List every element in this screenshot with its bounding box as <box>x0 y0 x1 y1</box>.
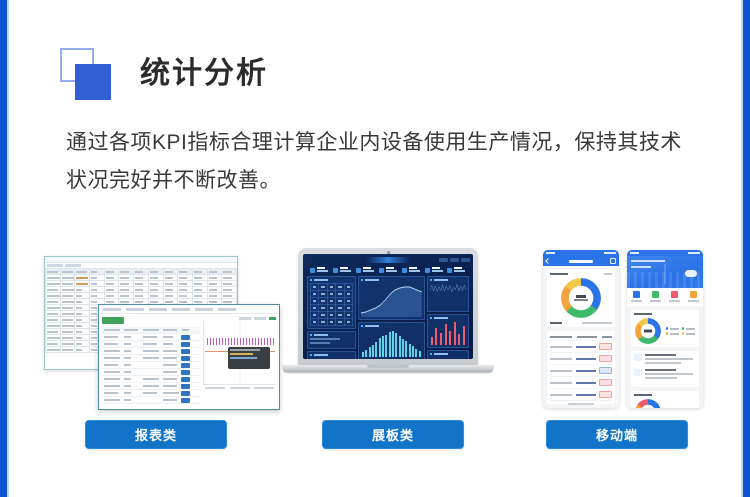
list-item[interactable] <box>550 341 612 353</box>
laptop-notch <box>367 365 409 368</box>
row-action-button[interactable] <box>181 342 190 347</box>
query-button[interactable] <box>269 317 276 320</box>
row-action-button[interactable] <box>181 356 190 361</box>
row-action-button[interactable] <box>181 398 190 403</box>
table-row <box>102 397 200 404</box>
list-item[interactable] <box>550 365 612 377</box>
row-action-button[interactable] <box>181 335 190 340</box>
row-action-button[interactable] <box>181 363 190 368</box>
list-item[interactable] <box>550 389 612 401</box>
panel-column-chart <box>427 314 469 348</box>
kpi-card <box>447 267 465 273</box>
donut-ring <box>635 399 661 408</box>
list-header-row <box>550 334 612 341</box>
section-description: 通过各项KPI指标合理计算企业内设备使用生产情况，保持其技术状况完好并不断改善。 <box>66 124 686 200</box>
tab-item[interactable] <box>149 308 167 311</box>
kpi-icon <box>310 268 315 273</box>
filter-icon[interactable] <box>610 258 616 264</box>
donut-center-value <box>574 294 588 302</box>
panel-grid-matrix <box>307 276 356 329</box>
kpi-card <box>379 267 397 273</box>
legend-item <box>666 332 679 335</box>
panel-alarm-table <box>427 350 469 359</box>
status-badge <box>599 355 612 362</box>
status-badge <box>599 379 612 386</box>
tab-item[interactable] <box>195 308 213 311</box>
quick-action-label <box>688 300 699 302</box>
mobile-screenshot[interactable] <box>530 250 718 412</box>
section-header: 统计分析 <box>56 48 268 100</box>
report-line-chart <box>203 322 276 385</box>
hero-line-secondary <box>631 266 651 268</box>
tab-item[interactable] <box>172 308 190 311</box>
filter-field[interactable] <box>239 317 251 320</box>
kpi-card <box>402 267 420 273</box>
device-stats-card <box>631 310 699 347</box>
laptop-lid <box>298 248 478 366</box>
dashboard-left-column <box>307 276 356 359</box>
alarm-table <box>430 357 466 359</box>
kpi-icon <box>447 268 452 273</box>
status-badge <box>599 367 612 374</box>
report-icon <box>690 291 697 298</box>
donut-chart-device-status <box>634 318 662 344</box>
table-row <box>102 369 200 376</box>
list-item[interactable] <box>550 353 612 365</box>
card-title <box>634 313 652 315</box>
message-list-card <box>631 351 699 387</box>
area-chart <box>361 283 422 317</box>
quick-action-label <box>650 300 661 302</box>
table-row <box>102 334 200 341</box>
axis-tick-label <box>205 387 225 389</box>
spark-line-svg <box>430 283 466 292</box>
kpi-icon <box>356 268 361 273</box>
tab-item[interactable] <box>218 308 236 311</box>
tab-item[interactable] <box>126 308 144 311</box>
kpi-icon <box>425 268 430 273</box>
dashboard-panels <box>305 276 471 359</box>
chart-toolbar[interactable] <box>203 317 276 320</box>
dashboard-menu[interactable] <box>439 258 470 262</box>
dashboard-title <box>366 257 410 263</box>
repair-icon <box>671 291 678 298</box>
row-action-button[interactable] <box>181 370 190 375</box>
quick-action-maintenance[interactable] <box>650 291 661 302</box>
area-chart-svg <box>361 283 422 317</box>
menu-item[interactable] <box>461 258 470 262</box>
kpi-icon <box>333 268 338 273</box>
task-stats-card <box>631 391 699 408</box>
legend-item <box>666 327 679 330</box>
category-button-row: 报表类 展板类 移动端 <box>0 420 750 447</box>
table-row <box>102 355 200 362</box>
report-detail-body <box>99 314 279 402</box>
signal-battery-icon <box>604 252 616 254</box>
filter-field[interactable] <box>254 317 266 320</box>
spark-line-chart <box>430 283 466 309</box>
dashboard-root <box>303 254 473 359</box>
status-badge <box>599 343 612 350</box>
donut-chart-task-status <box>634 399 662 408</box>
report-tab-bar[interactable] <box>99 305 279 314</box>
row-action-button[interactable] <box>181 377 190 382</box>
tooltip-line <box>230 353 253 355</box>
inspection-icon <box>633 291 640 298</box>
table-row <box>102 390 200 397</box>
panel-bar-chart <box>358 322 425 359</box>
panel-spark-lines <box>427 276 469 312</box>
clock-text <box>630 252 639 254</box>
clock-text <box>546 252 555 254</box>
chart-x-axis <box>203 385 276 389</box>
row-action-button[interactable] <box>181 384 190 389</box>
menu-item[interactable] <box>450 258 459 262</box>
dashboard-topbar <box>305 256 471 265</box>
message-item[interactable] <box>634 369 696 381</box>
laptop-screen <box>303 254 473 359</box>
report-data-table-pane <box>99 314 203 402</box>
tower-illustration <box>664 264 666 284</box>
legend-item <box>682 327 695 330</box>
report-detail-window <box>98 304 280 410</box>
page-title: 统计分析 <box>140 59 268 89</box>
tooltip-line <box>230 357 257 359</box>
message-badge <box>634 354 642 361</box>
column-chart <box>430 321 466 345</box>
kpi-card <box>425 267 443 273</box>
quick-action-inspection[interactable] <box>631 291 642 302</box>
donut-legend <box>662 327 696 335</box>
row-action-button[interactable] <box>181 349 190 354</box>
double-square-icon <box>56 48 112 100</box>
dashboard-screenshot[interactable] <box>282 248 494 398</box>
kpi-card <box>356 267 374 273</box>
card-footer-value <box>582 322 612 324</box>
report-tab <box>65 264 81 267</box>
quick-action-label <box>631 300 642 302</box>
weather-cloud-icon <box>685 270 697 277</box>
list-item[interactable] <box>550 377 612 389</box>
dashboard-kpi-row <box>305 265 471 276</box>
maintenance-icon <box>652 291 659 298</box>
showcase-strip <box>0 248 750 413</box>
kpi-card <box>310 267 328 273</box>
card-more-link[interactable] <box>604 273 612 275</box>
report-tab <box>47 264 63 267</box>
card-title <box>550 273 568 275</box>
record-list-card <box>547 331 615 404</box>
panel-summary <box>307 331 356 349</box>
card-title <box>634 394 652 396</box>
table-row <box>102 383 200 390</box>
dashboard-right-column <box>427 276 469 359</box>
phone-page-title <box>569 260 593 263</box>
donut-chart-devices <box>550 278 612 318</box>
panel-status-table <box>307 351 356 359</box>
table-row <box>102 341 200 348</box>
matrix-table <box>310 283 353 326</box>
card-footer-label <box>550 322 562 324</box>
reports-screenshot[interactable] <box>38 252 278 412</box>
legend-item <box>682 332 695 335</box>
hero-line-primary <box>631 260 665 262</box>
table-row <box>102 348 200 355</box>
square-filled-shape <box>75 64 111 100</box>
table-row <box>102 362 200 369</box>
home-indicator <box>568 403 594 405</box>
quick-action-label <box>669 300 680 302</box>
phone-screen-home <box>627 250 703 408</box>
tooltip-line <box>230 349 260 351</box>
message-item[interactable] <box>634 354 696 366</box>
table-row <box>102 376 200 383</box>
report-chart-pane <box>203 314 279 402</box>
quick-action-report[interactable] <box>688 291 699 302</box>
panel-area-chart <box>358 276 425 320</box>
report-data-table <box>102 327 200 404</box>
kpi-icon <box>379 268 384 273</box>
quick-actions-row[interactable] <box>627 288 703 306</box>
phone-nav-bar <box>543 256 619 266</box>
axis-tick-label <box>254 387 274 389</box>
menu-item[interactable] <box>439 258 448 262</box>
mobile-button[interactable]: 移动端 <box>546 420 688 449</box>
row-action-button[interactable] <box>181 391 190 396</box>
quick-action-repair[interactable] <box>669 291 680 302</box>
reports-button[interactable]: 报表类 <box>85 420 227 449</box>
export-button[interactable] <box>102 317 124 324</box>
chart-tooltip <box>228 347 270 369</box>
phone-screen-statistics <box>543 250 619 408</box>
signal-battery-icon <box>688 252 700 254</box>
axis-tick-label <box>230 387 250 389</box>
phone-hero-banner <box>627 256 703 288</box>
status-badge <box>599 391 612 398</box>
bar-chart <box>361 329 422 357</box>
message-badge <box>634 369 642 376</box>
back-icon[interactable] <box>545 258 551 264</box>
kpi-icon <box>402 268 407 273</box>
chart-series-line <box>207 338 275 345</box>
kpi-card <box>333 267 351 273</box>
tab-item[interactable] <box>103 308 121 311</box>
dashboard-button[interactable]: 展板类 <box>322 420 464 449</box>
device-donut-card <box>547 270 615 327</box>
page-root: 统计分析 通过各项KPI指标合理计算企业内设备使用生产情况，保持其技术状况完好并… <box>0 0 750 497</box>
status-table <box>310 358 353 359</box>
dashboard-center-column <box>358 276 425 359</box>
